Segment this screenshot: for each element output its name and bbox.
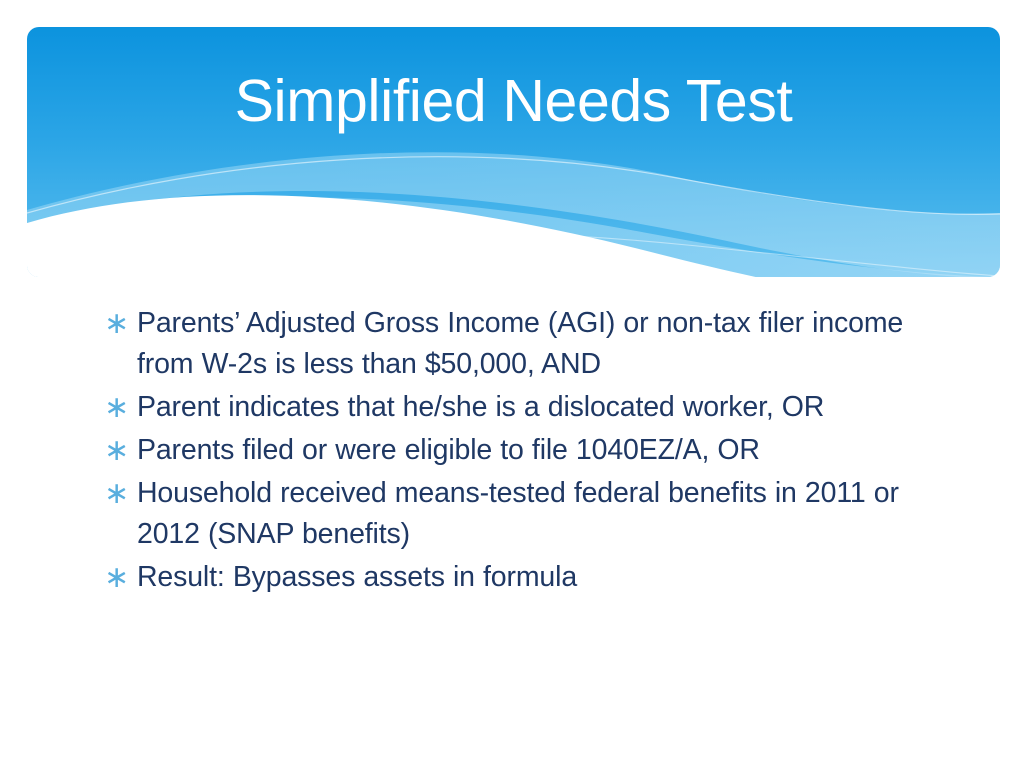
list-item-text: Parents’ Adjusted Gross Income (AGI) or … — [137, 303, 934, 385]
header-banner — [27, 27, 1000, 277]
asterisk-bullet-icon: ∗ — [104, 303, 137, 344]
list-item-text: Parents filed or were eligible to file 1… — [137, 430, 934, 471]
list-item-text: Result: Bypasses assets in formula — [137, 557, 934, 598]
list-item: ∗ Parent indicates that he/she is a disl… — [104, 387, 934, 428]
presentation-slide: Simplified Needs Test ∗ Parents’ Adjuste… — [0, 0, 1024, 768]
bullet-list: ∗ Parents’ Adjusted Gross Income (AGI) o… — [104, 303, 934, 600]
slide-title: Simplified Needs Test — [27, 69, 1000, 134]
asterisk-bullet-icon: ∗ — [104, 387, 137, 428]
asterisk-bullet-icon: ∗ — [104, 473, 137, 514]
list-item-text: Parent indicates that he/she is a disloc… — [137, 387, 934, 428]
header-wave-graphic — [27, 27, 1000, 277]
list-item: ∗ Result: Bypasses assets in formula — [104, 557, 934, 598]
list-item: ∗ Parents’ Adjusted Gross Income (AGI) o… — [104, 303, 934, 385]
asterisk-bullet-icon: ∗ — [104, 430, 137, 471]
list-item-text: Household received means-tested federal … — [137, 473, 934, 555]
list-item: ∗ Household received means-tested federa… — [104, 473, 934, 555]
list-item: ∗ Parents filed or were eligible to file… — [104, 430, 934, 471]
asterisk-bullet-icon: ∗ — [104, 557, 137, 598]
